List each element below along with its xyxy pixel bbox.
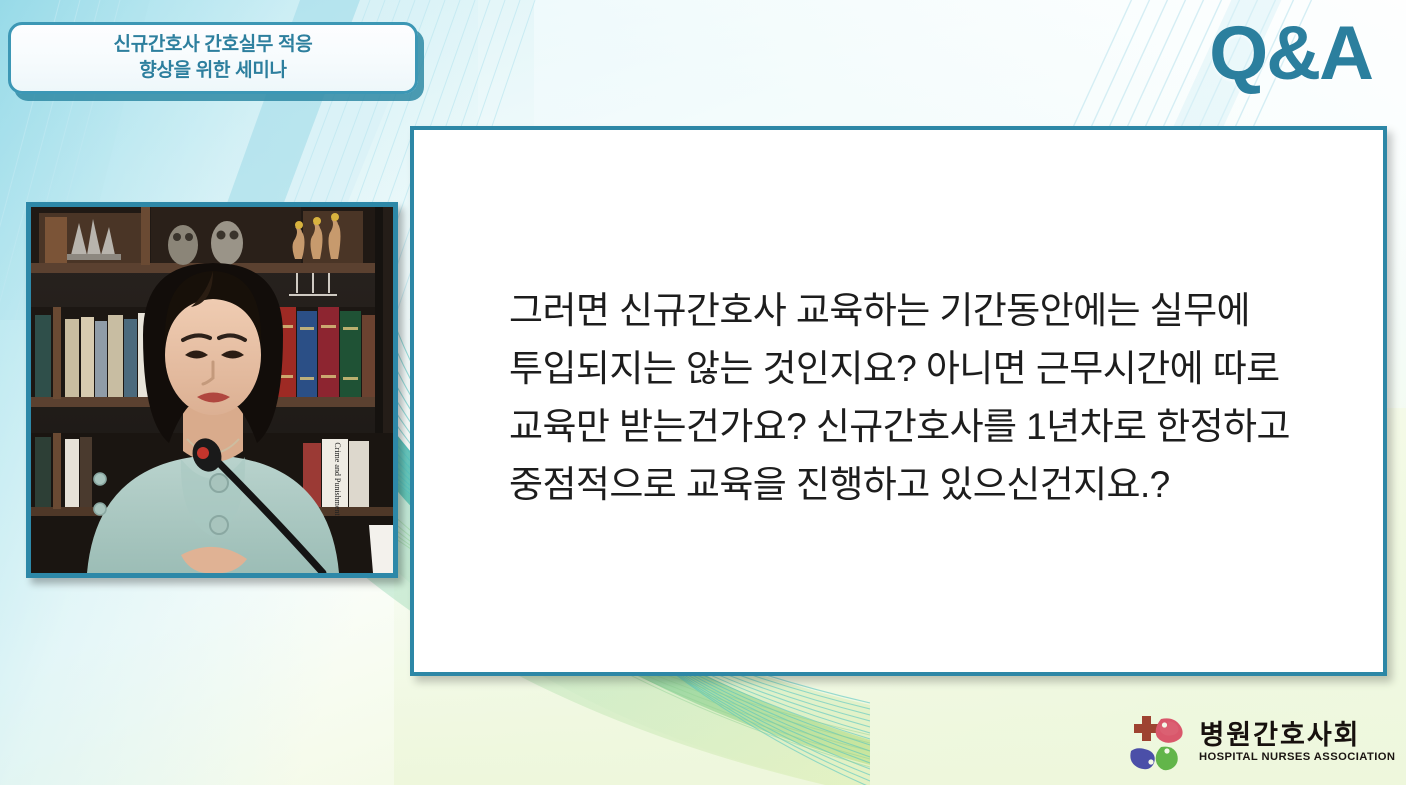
svg-text:Crime and Punishment: Crime and Punishment — [333, 442, 342, 516]
speaker-video-illustration-icon: Crime and Punishment — [31, 207, 393, 573]
speaker-video-image: Crime and Punishment — [31, 207, 393, 573]
nurses-association-logo-icon — [1125, 713, 1187, 771]
section-heading-qa: Q&A — [1209, 16, 1372, 92]
question-line-1: 그러면 신규간호사 교육하는 기간동안에는 실무에 — [509, 282, 1309, 340]
organization-name-korean: 병원간호사회 — [1199, 722, 1360, 749]
question-line-3: 교육만 받는건가요? 신규간호사를 1년차로 한정하고 — [509, 398, 1309, 456]
organization-logo-text: 병원간호사회 HOSPITAL NURSES ASSOCIATION — [1199, 722, 1392, 763]
organization-logo: 병원간호사회 HOSPITAL NURSES ASSOCIATION — [1125, 713, 1392, 771]
presentation-slide: 신규간호사 간호실무 적응 향상을 위한 세미나 Q&A — [0, 0, 1406, 785]
slide-title-text: 신규간호사 간호실무 적응 향상을 위한 세미나 — [114, 32, 313, 84]
speaker-video-thumbnail[interactable]: Crime and Punishment — [26, 202, 398, 578]
slide-title-banner: 신규간호사 간호실무 적응 향상을 위한 세미나 — [8, 22, 418, 94]
question-line-4: 중점적으로 교육을 진행하고 있으신건지요.? — [509, 456, 1309, 514]
question-line-2: 투입되지는 않는 것인지요? 아니면 근무시간에 따로 — [509, 340, 1309, 398]
organization-name-english: HOSPITAL NURSES ASSOCIATION — [1199, 752, 1395, 763]
question-content-panel: 그러면 신규간호사 교육하는 기간동안에는 실무에 투입되지는 않는 것인지요?… — [410, 126, 1387, 676]
question-text-block: 그러면 신규간호사 교육하는 기간동안에는 실무에 투입되지는 않는 것인지요?… — [509, 282, 1309, 514]
